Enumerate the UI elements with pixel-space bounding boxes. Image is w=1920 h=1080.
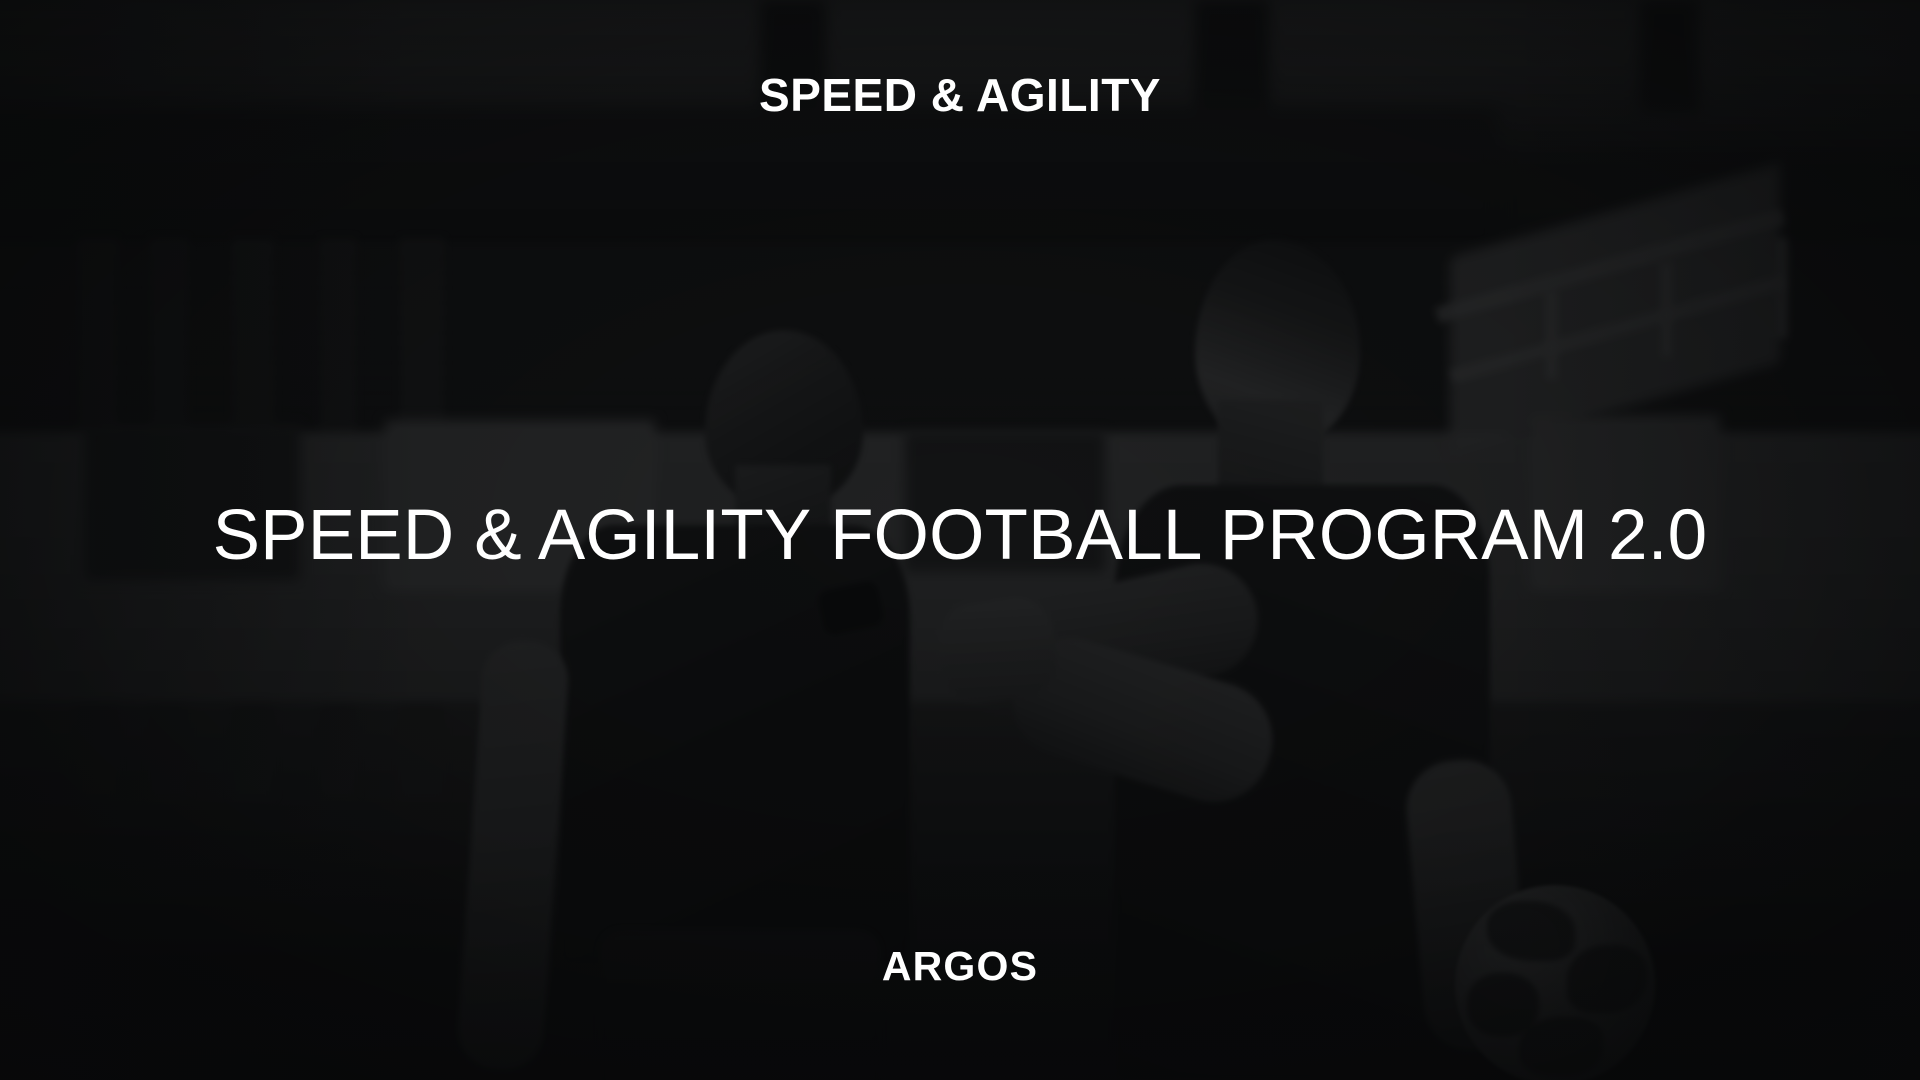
page-title: SPEED & AGILITY FOOTBALL PROGRAM 2.0 — [0, 497, 1920, 575]
title-slide: SPEED & AGILITY SPEED & AGILITY FOOTBALL… — [0, 0, 1920, 1080]
brand-label: ARGOS — [0, 944, 1920, 989]
slide-content: SPEED & AGILITY SPEED & AGILITY FOOTBALL… — [0, 0, 1920, 1080]
eyebrow-label: SPEED & AGILITY — [0, 70, 1920, 121]
